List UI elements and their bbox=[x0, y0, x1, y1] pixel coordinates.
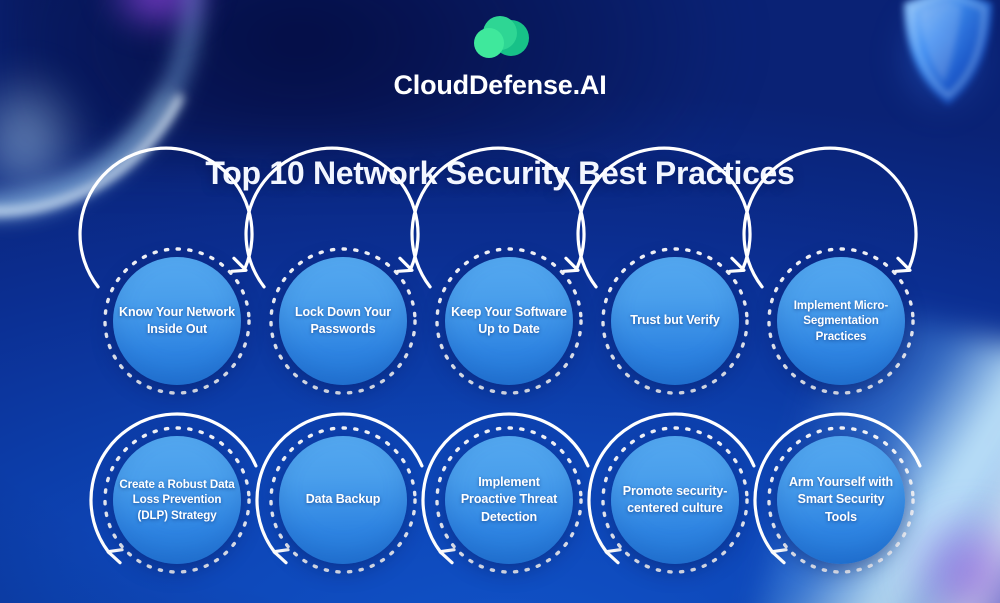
practice-label-3: Keep Your Software Up to Date bbox=[446, 304, 572, 339]
practice-circle-3[interactable]: Keep Your Software Up to Date bbox=[445, 257, 573, 385]
practice-item-10[interactable]: Arm Yourself with Smart Security Tools bbox=[750, 409, 932, 591]
practice-circle-9[interactable]: Promote security-centered culture bbox=[611, 436, 739, 564]
brand-name: CloudDefense.AI bbox=[0, 70, 1000, 101]
practice-item-2[interactable]: Lock Down Your Passwords bbox=[252, 230, 434, 412]
practice-label-9: Promote security-centered culture bbox=[612, 483, 738, 518]
practice-label-2: Lock Down Your Passwords bbox=[280, 304, 406, 339]
practice-item-3[interactable]: Keep Your Software Up to Date bbox=[418, 230, 600, 412]
practice-circle-2[interactable]: Lock Down Your Passwords bbox=[279, 257, 407, 385]
practice-label-1: Know Your Network Inside Out bbox=[114, 304, 240, 339]
practice-item-1[interactable]: Know Your Network Inside Out bbox=[86, 230, 268, 412]
practice-item-9[interactable]: Promote security-centered culture bbox=[584, 409, 766, 591]
practice-label-4: Trust but Verify bbox=[612, 312, 738, 329]
practice-label-7: Data Backup bbox=[280, 491, 406, 508]
practice-label-6: Create a Robust Data Loss Prevention (DL… bbox=[114, 477, 240, 524]
practice-circle-10[interactable]: Arm Yourself with Smart Security Tools bbox=[777, 436, 905, 564]
practice-label-5: Implement Micro-Segmentation Practices bbox=[778, 298, 904, 345]
practices-grid: Know Your Network Inside OutLock Down Yo… bbox=[0, 230, 1000, 591]
page-title: Top 10 Network Security Best Practices bbox=[0, 155, 1000, 192]
brand-header: CloudDefense.AI bbox=[0, 0, 1000, 101]
practices-row-1: Know Your Network Inside OutLock Down Yo… bbox=[0, 230, 1000, 412]
practice-circle-7[interactable]: Data Backup bbox=[279, 436, 407, 564]
practice-circle-4[interactable]: Trust but Verify bbox=[611, 257, 739, 385]
practices-row-2: Create a Robust Data Loss Prevention (DL… bbox=[0, 409, 1000, 591]
practice-item-7[interactable]: Data Backup bbox=[252, 409, 434, 591]
practice-circle-6[interactable]: Create a Robust Data Loss Prevention (DL… bbox=[113, 436, 241, 564]
practice-label-10: Arm Yourself with Smart Security Tools bbox=[778, 474, 904, 526]
practice-circle-8[interactable]: Implement Proactive Threat Detection bbox=[445, 436, 573, 564]
practice-item-5[interactable]: Implement Micro-Segmentation Practices bbox=[750, 230, 932, 412]
cloud-logo-icon bbox=[464, 14, 536, 62]
practice-item-4[interactable]: Trust but Verify bbox=[584, 230, 766, 412]
practice-circle-5[interactable]: Implement Micro-Segmentation Practices bbox=[777, 257, 905, 385]
infographic-canvas: CloudDefense.AI Top 10 Network Security … bbox=[0, 0, 1000, 603]
practice-label-8: Implement Proactive Threat Detection bbox=[446, 474, 572, 526]
practice-item-6[interactable]: Create a Robust Data Loss Prevention (DL… bbox=[86, 409, 268, 591]
practice-circle-1[interactable]: Know Your Network Inside Out bbox=[113, 257, 241, 385]
practice-item-8[interactable]: Implement Proactive Threat Detection bbox=[418, 409, 600, 591]
